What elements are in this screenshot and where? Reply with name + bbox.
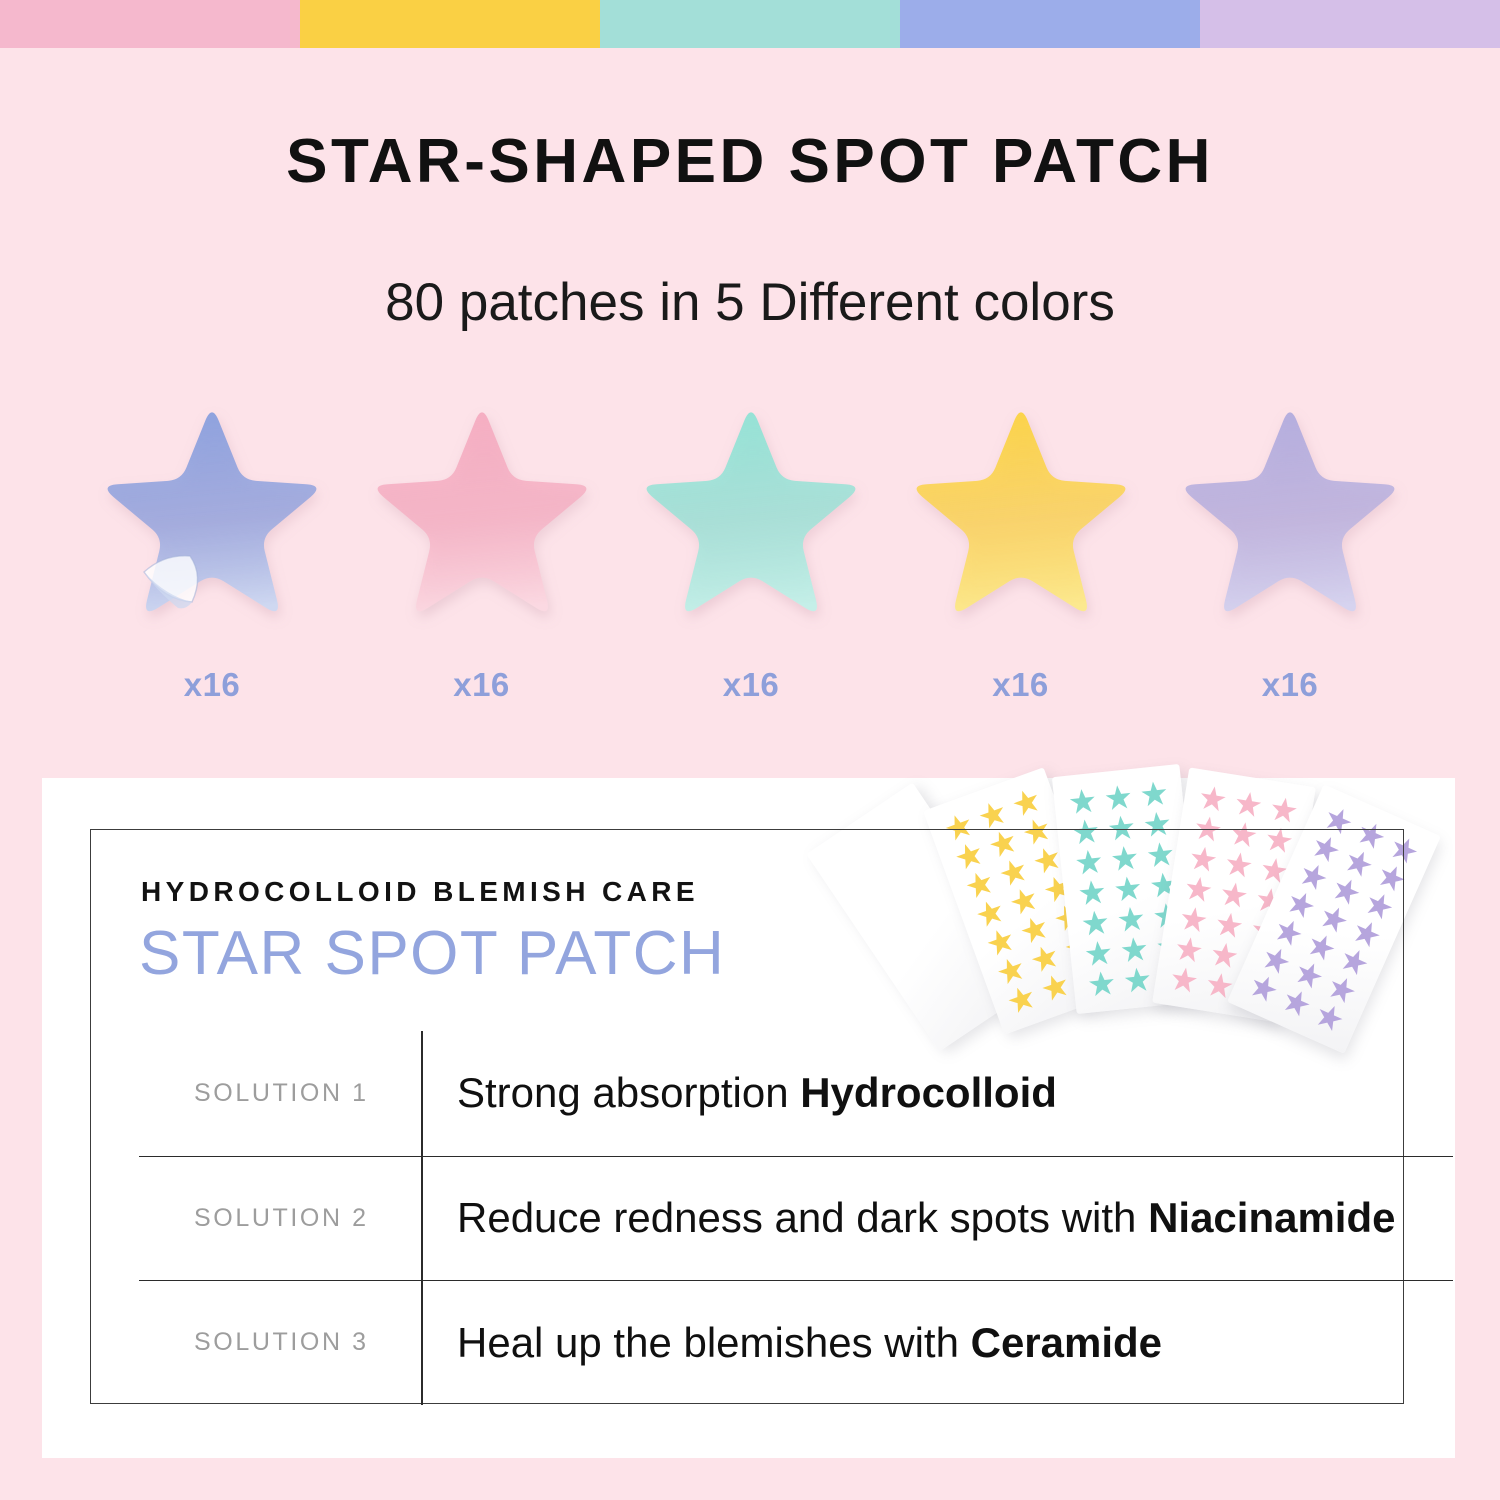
- solution-label: SOLUTION 2: [139, 1204, 421, 1233]
- sheet-star: [1198, 784, 1228, 814]
- star-color-row: x16 x16: [86, 404, 1416, 724]
- color-swatch-mint: [600, 0, 900, 48]
- star-count-label: x16: [625, 666, 877, 704]
- page-title: STAR-SHAPED SPOT PATCH: [0, 126, 1500, 197]
- solution-row: SOLUTION 2Reduce redness and dark spots …: [139, 1156, 1453, 1281]
- star-patch-icon: [1164, 404, 1416, 644]
- sheet-star: [1140, 780, 1169, 809]
- solution-row: SOLUTION 1Strong absorption Hydrocolloid: [139, 1031, 1453, 1156]
- page-subtitle: 80 patches in 5 Different colors: [0, 272, 1500, 333]
- sheet-star: [1269, 795, 1299, 825]
- star-cell-mint: x16: [625, 404, 877, 704]
- sheet-star: [1010, 786, 1043, 819]
- star-cell-periwinkle-blue: x16: [86, 404, 338, 704]
- top-color-bar: [0, 0, 1500, 48]
- sheet-star: [1068, 787, 1097, 816]
- info-card: HYDROCOLLOID BLEMISH CARE STAR SPOT PATC…: [42, 778, 1455, 1458]
- solution-label: SOLUTION 3: [139, 1328, 421, 1357]
- sheet-star: [1233, 790, 1263, 820]
- star-count-label: x16: [1164, 666, 1416, 704]
- solution-text: Heal up the blemishes with Ceramide: [421, 1319, 1162, 1367]
- solution-ingredient: Niacinamide: [1148, 1194, 1395, 1241]
- star-count-label: x16: [895, 666, 1147, 704]
- solution-ingredient: Ceramide: [971, 1319, 1162, 1366]
- star-patch-icon: [86, 404, 338, 644]
- star-cell-lavender: x16: [1164, 404, 1416, 704]
- solution-row: SOLUTION 3Heal up the blemishes with Cer…: [139, 1280, 1453, 1405]
- star-cell-pink: x16: [356, 404, 608, 704]
- color-swatch-pink: [0, 0, 300, 48]
- info-box-border: HYDROCOLLOID BLEMISH CARE STAR SPOT PATC…: [90, 829, 1404, 1404]
- solution-text: Strong absorption Hydrocolloid: [421, 1069, 1057, 1117]
- star-cell-yellow: x16: [895, 404, 1147, 704]
- sheet-star: [1104, 783, 1133, 812]
- solution-ingredient: Hydrocolloid: [800, 1069, 1057, 1116]
- solution-label: SOLUTION 1: [139, 1079, 421, 1108]
- star-patch-icon: [356, 404, 608, 644]
- solution-column-divider: [421, 1031, 423, 1156]
- solution-column-divider: [421, 1157, 423, 1281]
- star-patch-icon: [895, 404, 1147, 644]
- brand-name: STAR SPOT PATCH: [139, 918, 725, 989]
- solution-column-divider: [421, 1281, 423, 1405]
- star-count-label: x16: [356, 666, 608, 704]
- sheet-star: [976, 798, 1009, 831]
- color-swatch-purple: [1200, 0, 1500, 48]
- star-patch-icon: [625, 404, 877, 644]
- brand-kicker: HYDROCOLLOID BLEMISH CARE: [141, 876, 699, 908]
- solution-text: Reduce redness and dark spots with Niaci…: [421, 1194, 1396, 1242]
- solutions-table: SOLUTION 1Strong absorption Hydrocolloid…: [139, 1031, 1453, 1405]
- star-count-label: x16: [86, 666, 338, 704]
- color-swatch-yellow: [300, 0, 600, 48]
- color-swatch-blue: [900, 0, 1200, 48]
